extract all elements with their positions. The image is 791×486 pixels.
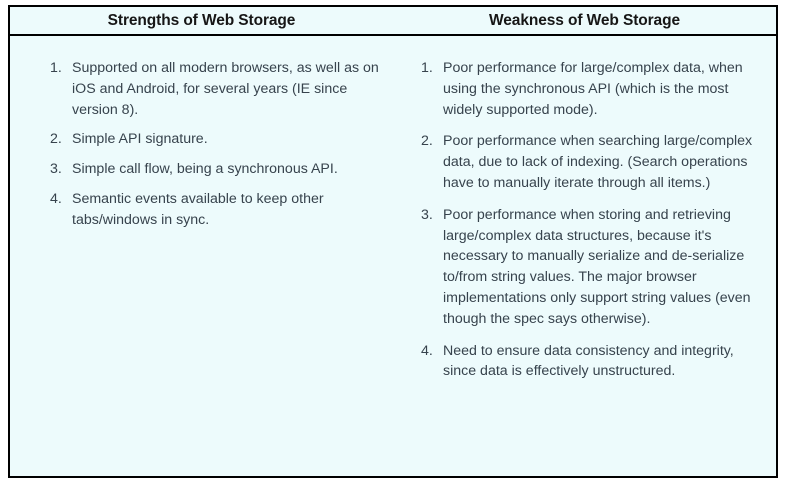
column-header-weakness: Weakness of Web Storage: [393, 7, 776, 34]
web-storage-comparison-table: Strengths of Web Storage Weakness of Web…: [8, 5, 778, 478]
list-item: Need to ensure data consistency and inte…: [421, 341, 760, 383]
list-item: Poor performance when searching large/co…: [421, 131, 760, 193]
table-header-row: Strengths of Web Storage Weakness of Web…: [10, 7, 776, 36]
list-item: Semantic events available to keep other …: [50, 189, 379, 231]
list-item: Poor performance when storing and retrie…: [421, 205, 760, 330]
strengths-list: Supported on all modern browsers, as wel…: [50, 58, 379, 231]
table-body-row: Supported on all modern browsers, as wel…: [10, 36, 776, 476]
list-item: Simple API signature.: [50, 129, 379, 150]
weaknesses-list: Poor performance for large/complex data,…: [421, 58, 760, 382]
cell-weakness: Poor performance for large/complex data,…: [393, 36, 776, 476]
column-header-strengths: Strengths of Web Storage: [10, 7, 393, 34]
list-item: Poor performance for large/complex data,…: [421, 58, 760, 120]
list-item: Simple call flow, being a synchronous AP…: [50, 159, 379, 180]
list-item: Supported on all modern browsers, as wel…: [50, 58, 379, 120]
document-page: Strengths of Web Storage Weakness of Web…: [0, 0, 791, 486]
cell-strengths: Supported on all modern browsers, as wel…: [10, 36, 393, 476]
